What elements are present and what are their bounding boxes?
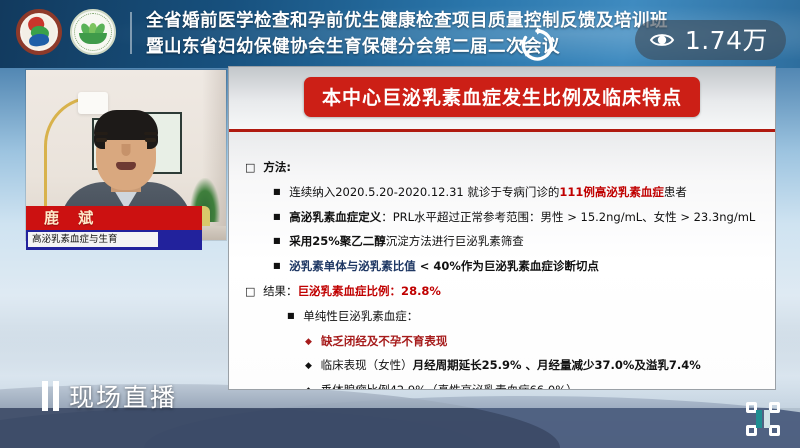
enrollment-text: 连续纳入2020.5.20-2020.12.31 就诊于专病门诊的 (289, 185, 559, 199)
speaker-topic-bar: 高泌乳素血症与生育 (26, 230, 202, 250)
results-ratio: 巨泌乳素血症比例：28.8% (298, 284, 441, 298)
maternal-health-logo-green-icon (70, 9, 116, 55)
speaker-name: 鹿 斌 (26, 206, 202, 230)
association-logo-red-icon (16, 9, 62, 55)
floor-lamp-shade (78, 92, 108, 114)
cutoff-label: 泌乳素单体与泌乳素比值 (289, 259, 416, 273)
speaker-nameplate: 鹿 斌 高泌乳素血症与生育 (26, 206, 202, 250)
slide-line-results-label: 结果：巨泌乳素血症比例：28.8% (245, 285, 763, 299)
slide-line-adenoma: 垂体腺瘤比例42.9%（真性高泌乳素血症66.0%） (245, 384, 763, 390)
speaker-topic: 高泌乳素血症与生育 (28, 232, 158, 247)
slide-body: 方法: 连续纳入2020.5.20-2020.12.31 就诊于专病门诊的111… (229, 137, 775, 389)
definition-label: 高泌乳素血症定义 (289, 210, 381, 224)
viewer-count-badge: 1.74万 (635, 20, 786, 60)
livestream-player: 全省婚前医学检查和孕前优生健康检查项目质量控制反馈及培训班 暨山东省妇幼保健协会… (0, 0, 800, 448)
slide-header-rule (229, 129, 775, 132)
pure-macro-text: 单纯性巨泌乳素血症： (303, 309, 418, 323)
crop-frame-icon[interactable] (746, 402, 780, 436)
slide-line-peg-method: 采用25%聚乙二醇沉淀方法进行巨泌乳素筛查 (245, 235, 763, 249)
slide-line-methods-label: 方法: (245, 161, 763, 175)
live-broadcast-label: 现场直播 (69, 378, 177, 414)
clinical-values: 月经周期延长25.9% 、月经量减少37.0%及溢乳7.4% (413, 358, 701, 372)
slide-line-cutoff: 泌乳素单体与泌乳素比值 < 40%作为巨泌乳素血症诊断切点 (245, 260, 763, 274)
eye-icon (649, 27, 675, 53)
slide-line-enrollment: 连续纳入2020.5.20-2020.12.31 就诊于专病门诊的111例高泌乳… (245, 186, 763, 200)
event-title: 全省婚前医学检查和孕前优生健康检查项目质量控制反馈及培训班 暨山东省妇幼保健协会… (146, 8, 668, 60)
peg-label: 采用25%聚乙二醇 (289, 234, 386, 248)
clinical-label: 临床表现（女性） (321, 358, 413, 372)
live-broadcast-badge: 现场直播 (42, 378, 177, 414)
slide-line-clinical-findings: 临床表现（女性）月经周期延长25.9% 、月经量减少37.0%及溢乳7.4% (245, 359, 763, 373)
peg-text: 沉淀方法进行巨泌乳素筛查 (386, 234, 524, 248)
slide-line-definition: 高泌乳素血症定义：PRL水平超过正常参考范围：男性 > 15.2ng/mL、女性… (245, 211, 763, 225)
cutoff-text: < 40%作为巨泌乳素血症诊断切点 (416, 259, 599, 273)
results-label-text: 结果： (263, 284, 298, 298)
enrollment-count: 111例高泌乳素血症 (559, 185, 664, 199)
header-divider (130, 12, 132, 54)
presentation-slide[interactable]: 本中心巨泌乳素血症发生比例及临床特点 方法: 连续纳入2020.5.20-202… (228, 66, 776, 390)
enrollment-suffix: 患者 (664, 185, 687, 199)
event-title-line2: 暨山东省妇幼保健协会生育保健分会第二届二次会议 (146, 34, 668, 60)
slide-line-pure-macro: 单纯性巨泌乳素血症： (245, 310, 763, 324)
loading-spinner-icon (518, 26, 556, 64)
slide-line-no-amenorrhea: 缺乏闭经及不孕不育表现 (245, 335, 763, 349)
slide-title: 本中心巨泌乳素血症发生比例及临床特点 (304, 77, 700, 117)
no-amenorrhea-text: 缺乏闭经及不孕不育表现 (321, 334, 448, 348)
event-title-line1: 全省婚前医学检查和孕前优生健康检查项目质量控制反馈及培训班 (146, 8, 668, 34)
viewer-count-value: 1.74万 (685, 28, 768, 53)
logo-group (16, 9, 116, 55)
definition-text: ：PRL水平超过正常参考范围：男性 > 15.2ng/mL、女性 > 23.3n… (381, 210, 755, 224)
pause-bars-icon (42, 381, 59, 411)
methods-label-text: 方法: (263, 160, 291, 174)
adenoma-text: 垂体腺瘤比例42.9%（真性高泌乳素血症66.0%） (321, 383, 578, 390)
